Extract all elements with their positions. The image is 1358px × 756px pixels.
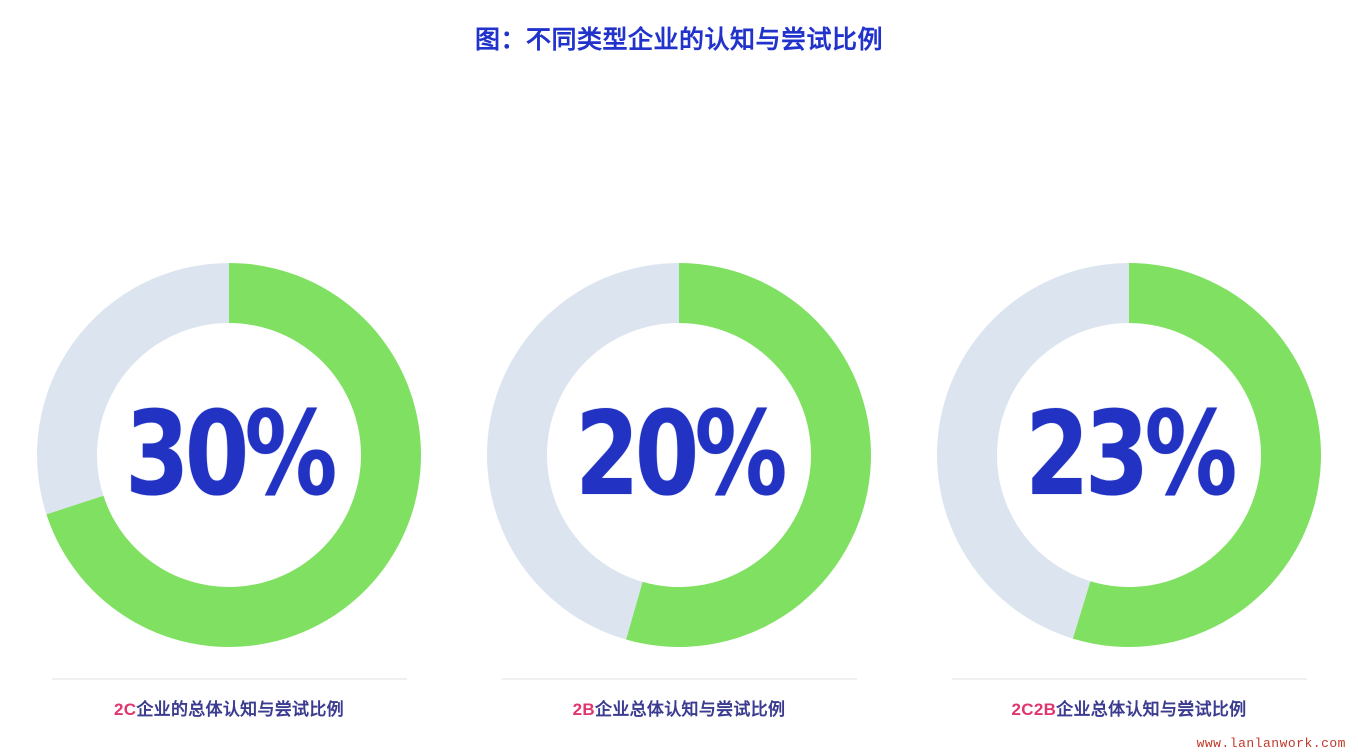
caption-body-2b: 企业总体认知与尝试比例 — [595, 700, 785, 719]
donut-panel-2c: 30% 2C企业的总体认知与尝试比例 — [14, 250, 444, 750]
donut-caption-2c: 2C企业的总体认知与尝试比例 — [114, 700, 344, 720]
donut-panels-row: 30% 2C企业的总体认知与尝试比例 20% 2B企业总体认知与尝试比例 — [0, 250, 1358, 750]
caption-prefix-2c: 2C — [114, 700, 136, 719]
donut-chart-2c2b[interactable]: 23% — [924, 250, 1334, 660]
donut-caption-2c2b: 2C2B企业总体认知与尝试比例 — [1012, 700, 1247, 720]
caption-body-2c2b: 企业总体认知与尝试比例 — [1056, 700, 1246, 719]
donut-panel-2c2b: 23% 2C2B企业总体认知与尝试比例 — [914, 250, 1344, 750]
caption-body-2c: 企业的总体认知与尝试比例 — [136, 700, 344, 719]
panel-divider-2c — [52, 678, 407, 680]
donut-value-2c: 30% — [125, 397, 333, 513]
caption-prefix-2c2b: 2C2B — [1012, 700, 1057, 719]
donut-caption-2b: 2B企业总体认知与尝试比例 — [573, 700, 786, 720]
donut-chart-2c[interactable]: 30% — [24, 250, 434, 660]
panel-divider-2c2b — [952, 678, 1307, 680]
donut-panel-2b: 20% 2B企业总体认知与尝试比例 — [464, 250, 894, 750]
chart-page: 图：不同类型企业的认知与尝试比例 30% 2C企业的总体认知与尝试比例 — [0, 0, 1358, 756]
donut-chart-2b[interactable]: 20% — [474, 250, 884, 660]
caption-prefix-2b: 2B — [573, 700, 595, 719]
donut-value-2b: 20% — [575, 397, 783, 513]
donut-value-2c2b: 23% — [1025, 397, 1233, 513]
panel-divider-2b — [502, 678, 857, 680]
page-title: 图：不同类型企业的认知与尝试比例 — [0, 20, 1358, 56]
watermark: www.lanlanwork.com — [1197, 736, 1346, 751]
